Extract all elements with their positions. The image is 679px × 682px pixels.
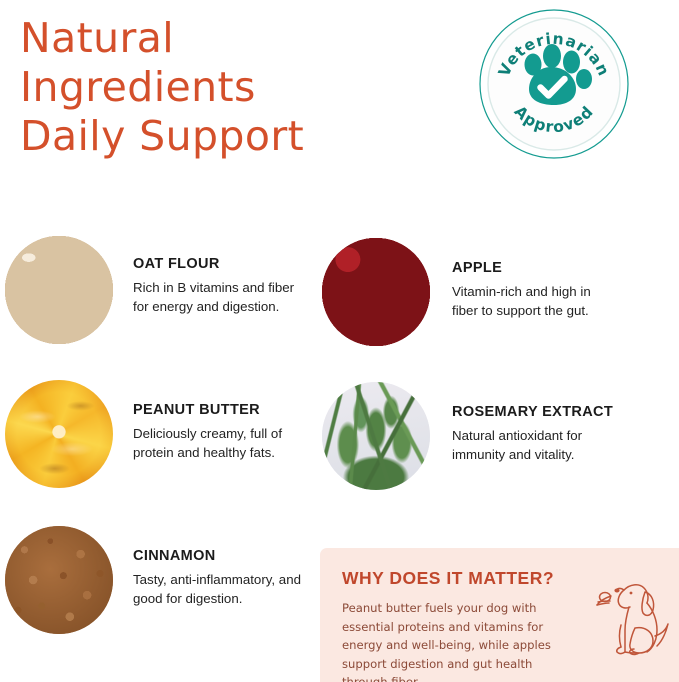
ingredient-item-oat-flour: OAT FLOUR Rich in B vitamins and fiber f… xyxy=(5,236,313,344)
ingredient-name: CINNAMON xyxy=(133,548,313,564)
ingredient-name: PEANUT BUTTER xyxy=(133,402,313,418)
oat-flour-photo xyxy=(5,236,113,344)
page-title-line-2: Ingredients xyxy=(20,63,450,112)
ingredient-item-peanut-butter: PEANUT BUTTER Deliciously creamy, full o… xyxy=(5,380,313,488)
cinnamon-photo xyxy=(5,526,113,634)
ingredient-item-cinnamon: CINNAMON Tasty, anti-inflammatory, and g… xyxy=(5,526,313,634)
ingredient-item-apple: APPLE Vitamin-rich and high in fiber to … xyxy=(322,238,617,346)
infographic-page: Natural Ingredients Daily Support Veteri… xyxy=(0,0,679,682)
peanut-butter-photo xyxy=(5,380,113,488)
page-title-line-1: Natural xyxy=(20,14,450,63)
rosemary-photo xyxy=(322,382,430,490)
why-panel-body: Peanut butter fuels your dog with essent… xyxy=(342,599,570,682)
apple-photo xyxy=(322,238,430,346)
ingredient-description: Natural antioxidant for immunity and vit… xyxy=(452,426,617,464)
page-title: Natural Ingredients Daily Support xyxy=(20,14,450,161)
ingredient-name: OAT FLOUR xyxy=(133,256,313,272)
ingredient-item-rosemary-extract: ROSEMARY EXTRACT Natural antioxidant for… xyxy=(322,382,617,490)
dog-line-art-icon xyxy=(567,568,671,672)
ingredient-description: Rich in B vitamins and fiber for energy … xyxy=(133,278,313,316)
ingredient-description: Deliciously creamy, full of protein and … xyxy=(133,424,313,462)
ingredient-description: Tasty, anti-inflammatory, and good for d… xyxy=(133,570,313,608)
ingredient-description: Vitamin-rich and high in fiber to suppor… xyxy=(452,282,617,320)
ingredient-name: ROSEMARY EXTRACT xyxy=(452,404,617,420)
why-does-it-matter-panel: WHY DOES IT MATTER? Peanut butter fuels … xyxy=(320,548,679,682)
veterinarian-approved-badge: Veterinarian Approved xyxy=(476,6,632,162)
page-title-line-3: Daily Support xyxy=(20,112,450,161)
ingredient-name: APPLE xyxy=(452,260,617,276)
